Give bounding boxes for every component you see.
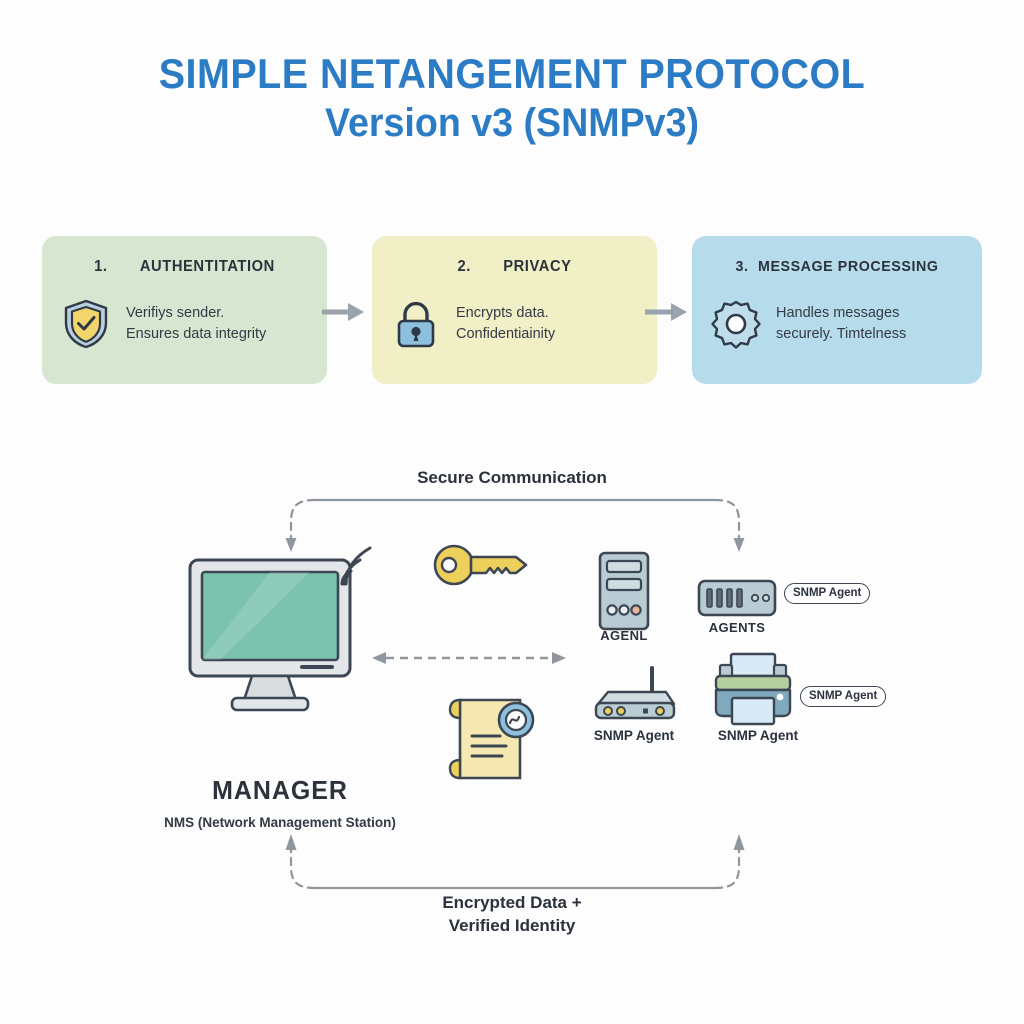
pillars-row: 1. AUTHENTITATION Verifiys sender. Ensur… [42,236,982,384]
diagram-canvas: SIMPLE NETANGEMENT PROTOCOL Version v3 (… [0,0,1024,1024]
encrypted-data-caption-line-2: Verified Identity [0,915,1024,938]
card-privacy-text: Encrypts data. Confidentiainity [456,303,555,345]
card-message-processing-number: 3. [735,258,748,275]
card-authentication-title: AUTHENTITATION [140,258,275,276]
card-message-processing-text-line-2: securely. Timtelness [776,324,906,345]
network-diagram: Secure Communication MANAGER NMS (Networ… [0,430,1024,990]
card-message-processing-text: Handles messages securely. Timtelness [776,303,906,345]
shield-check-icon [60,298,112,350]
card-message-processing[interactable]: 3. MESSAGE PROCESSING Handles messages s… [692,236,982,384]
card-privacy[interactable]: 2. PRIVACY Encrypts data. Confidentiaini… [372,236,657,384]
card-flow-arrow-1 [322,300,366,324]
manager-subtitle: NMS (Network Management Station) [0,815,560,830]
bidirectional-link-arrow [372,648,566,668]
card-privacy-body: Encrypts data. Confidentiainity [390,298,643,350]
card-privacy-text-line-1: Encrypts data. [456,303,555,324]
server-tower-icon[interactable] [596,550,652,632]
card-authentication-number: 1. [94,258,107,276]
card-privacy-title: PRIVACY [503,258,571,276]
router-icon[interactable] [590,662,678,724]
device-label-agents: AGENTS [692,620,782,635]
card-authentication-text-line-1: Verifiys sender. [126,303,266,324]
printer-icon[interactable] [708,652,798,728]
title-line-1: SIMPLE NETANGEMENT PROTOCOL [31,52,994,97]
snmp-agent-badge-1[interactable]: SNMP Agent [784,583,870,604]
card-authentication-body: Verifiys sender. Ensures data integrity [60,298,313,350]
card-authentication-header: 1. AUTHENTITATION [49,258,320,276]
card-message-processing-text-line-1: Handles messages [776,303,906,324]
lock-icon [390,298,442,350]
card-authentication[interactable]: 1. AUTHENTITATION Verifiys sender. Ensur… [42,236,327,384]
encrypted-data-bracket [285,830,745,892]
card-message-processing-title: MESSAGE PROCESSING [758,258,939,275]
key-icon [432,538,532,592]
server-rack-icon[interactable] [697,578,777,618]
page-title: SIMPLE NETANGEMENT PROTOCOL Version v3 (… [0,52,1024,145]
card-privacy-header: 2. PRIVACY [379,258,650,276]
card-message-processing-header: 3. MESSAGE PROCESSING [699,258,975,275]
card-authentication-text: Verifiys sender. Ensures data integrity [126,303,266,345]
encrypted-data-caption-line-1: Encrypted Data + [0,892,1024,915]
card-authentication-text-line-2: Ensures data integrity [126,324,266,345]
card-flow-arrow-2 [645,300,689,324]
snmp-agent-badge-2[interactable]: SNMP Agent [800,686,886,707]
certificate-scroll-icon [444,692,540,788]
wifi-waves-icon [340,540,390,590]
secure-communication-label: Secure Communication [0,468,1024,488]
card-privacy-text-line-2: Confidentiainity [456,324,555,345]
gear-icon [710,298,762,350]
device-label-router: SNMP Agent [578,728,690,743]
card-message-processing-body: Handles messages securely. Timtelness [710,298,968,350]
device-label-agenl: AGENL [578,628,670,643]
card-privacy-number: 2. [457,258,470,276]
title-line-2: Version v3 (SNMPv3) [31,101,994,145]
encrypted-data-caption: Encrypted Data + Verified Identity [0,892,1024,938]
device-label-printer: SNMP Agent [700,728,816,743]
